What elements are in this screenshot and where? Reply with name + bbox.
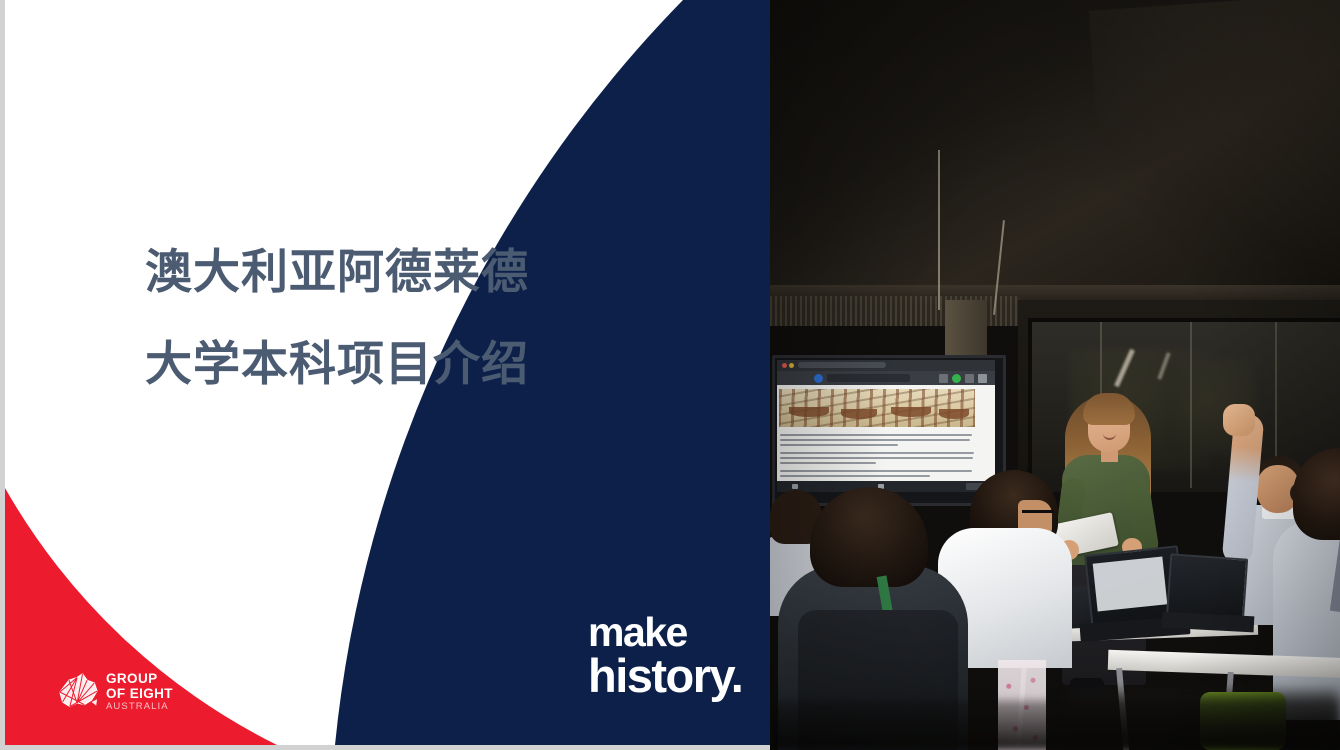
- webpage-text-line: [780, 462, 876, 464]
- webpage-text-line: [780, 475, 930, 477]
- glass-mullion: [1190, 322, 1192, 488]
- slide-left-panel: 澳大利亚阿德莱德 大学本科项目介绍 make history. GROUP OF…: [5, 0, 770, 745]
- toolbar-status-icon: [952, 374, 961, 383]
- teacher-hair-top: [1083, 393, 1135, 425]
- webpage-text-line: [780, 452, 974, 454]
- title-line-2: 大学本科项目介绍: [145, 318, 585, 410]
- logo-line-3: AUSTRALIA: [106, 702, 173, 712]
- window-minimize-dot: [789, 363, 794, 368]
- logo-line-1: GROUP: [106, 672, 173, 686]
- make-history-tagline: make history.: [588, 612, 742, 700]
- hanging-wire: [938, 150, 940, 310]
- webpage-text-line: [780, 439, 970, 441]
- presentation-slide: 澳大利亚阿德莱德 大学本科项目介绍 make history. GROUP OF…: [0, 0, 1340, 750]
- webpage-text-line: [780, 470, 972, 472]
- bayeux-tapestry-image: [779, 389, 975, 427]
- toolbar-icon: [939, 374, 948, 383]
- browser-home-icon: [814, 374, 823, 383]
- logo-wordmark: GROUP OF EIGHT AUSTRALIA: [106, 672, 173, 712]
- tagline-line-2: history.: [588, 652, 742, 700]
- australia-map-facets-icon: [57, 672, 99, 712]
- toolbar-icon: [978, 374, 987, 383]
- laptop-screen-content: [1093, 556, 1168, 611]
- webpage-text-line: [780, 434, 972, 436]
- classroom-photo: [770, 0, 1340, 750]
- browser-url-bar: [798, 362, 886, 368]
- webpage-text-line: [780, 444, 898, 446]
- webpage-text-line: [780, 457, 973, 459]
- group-of-eight-logo: GROUP OF EIGHT AUSTRALIA: [57, 672, 173, 712]
- student-glasses: [1022, 510, 1054, 513]
- slide-title: 澳大利亚阿德莱德 大学本科项目介绍: [145, 226, 585, 410]
- student-raised-fist: [1223, 404, 1255, 436]
- browser-search-field: [827, 374, 910, 382]
- window-close-dot: [782, 363, 787, 368]
- toolbar-icon: [965, 374, 974, 383]
- taskbar-icon: [792, 484, 798, 489]
- foreground-shadow: [770, 700, 1340, 750]
- tagline-line-1: make: [588, 612, 742, 652]
- logo-line-2: OF EIGHT: [106, 687, 173, 701]
- title-line-1: 澳大利亚阿德莱德: [145, 226, 585, 318]
